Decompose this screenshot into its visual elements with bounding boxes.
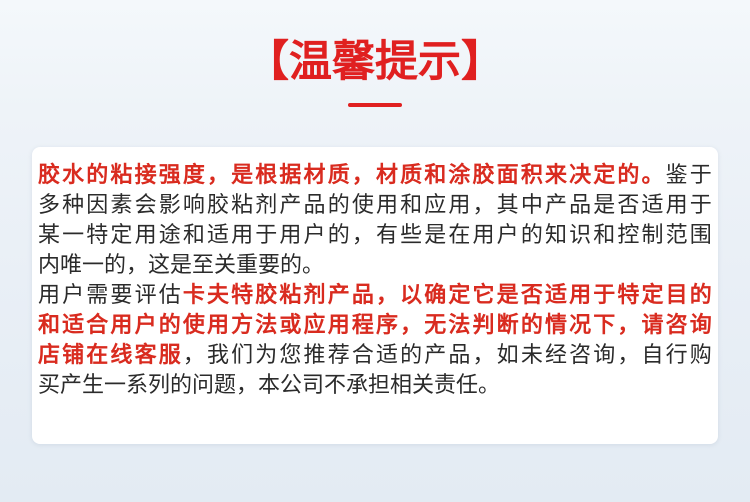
title-block: 【温馨提示】: [0, 36, 750, 107]
notice-text-dark: 用: [666, 191, 688, 221]
notice-text-dark: 户: [497, 221, 519, 251]
notice-text-red: 据: [279, 161, 301, 191]
notice-text-red: ，: [376, 281, 398, 311]
notice-text-red: 法: [448, 311, 470, 341]
notice-text-dark: 产: [545, 191, 567, 221]
notice-text-dark: 些: [400, 221, 422, 251]
notice-text-dark: 会: [135, 191, 157, 221]
notice-text-red: 适: [545, 281, 567, 311]
notice-text-dark: 剂: [255, 191, 277, 221]
notice-text-red: 胶: [255, 281, 277, 311]
notice-text-red: 是: [231, 161, 253, 191]
notice-text-red: 来: [545, 161, 567, 191]
notice-text-red: 产: [328, 281, 350, 311]
notice-text-red: 和: [424, 161, 446, 191]
notice-line: 内唯一的，这是至关重要的。: [38, 251, 712, 281]
notice-text-red: 特: [617, 281, 639, 311]
notice-text-dark: 户: [62, 281, 84, 311]
notice-text-red: 品: [352, 281, 374, 311]
page-title: 【温馨提示】: [0, 36, 750, 88]
notice-text-dark: 行: [666, 341, 688, 371]
notice-text-dark: 估: [159, 281, 181, 311]
notice-text-dark: 品: [304, 191, 326, 221]
notice-text-red: 线: [110, 341, 132, 371]
notice-text-dark: 自: [642, 341, 664, 371]
notice-text-dark: 某: [38, 221, 60, 251]
notice-text-dark: 户: [304, 221, 326, 251]
notice-text-dark: 途: [159, 221, 181, 251]
notice-text-red: 店: [38, 341, 60, 371]
notice-text-dark: 制: [642, 221, 664, 251]
notice-text-dark: 定: [110, 221, 132, 251]
notice-text-red: 请: [642, 311, 664, 341]
notice-text-dark: 胶: [207, 191, 229, 221]
notice-line: 买产生一系列的问题，本公司不承担相关责任。: [38, 371, 712, 401]
notice-text-red: 应: [304, 311, 326, 341]
notice-text-red: 在: [86, 341, 108, 371]
notice-text-red: 下: [593, 311, 615, 341]
notice-text-dark: 否: [617, 191, 639, 221]
notice-text-red: 目: [666, 281, 688, 311]
notice-text-red: 强: [159, 161, 181, 191]
notice-text-red: 根: [255, 161, 277, 191]
notice-text-red: ，: [617, 311, 639, 341]
notice-text-dark: 识: [569, 221, 591, 251]
notice-text-red: 用: [207, 311, 229, 341]
notice-text-red: 的: [86, 161, 108, 191]
notice-text-dark: 内唯一的，这是至关重要的。: [38, 253, 324, 278]
notice-text-dark: 中: [521, 191, 543, 221]
notice-text-dark: 其: [497, 191, 519, 221]
notice-text-dark: 适: [642, 191, 664, 221]
notice-text-red: 断: [497, 311, 519, 341]
notice-text-dark: 于: [690, 161, 712, 191]
notice-text-dark: 用: [38, 281, 60, 311]
notice-line: 和适合用户的使用方法或应用程序，无法判断的情况下，请咨询: [38, 311, 712, 341]
notice-text-dark: 素: [110, 191, 132, 221]
notice-text-red: 询: [690, 311, 712, 341]
notice-text-red: ，: [400, 311, 422, 341]
notice-text-dark: 我: [207, 341, 229, 371]
notice-text-dark: 种: [62, 191, 84, 221]
notice-text-red: 户: [135, 311, 157, 341]
notice-text-red: 接: [135, 161, 157, 191]
notice-text-dark: 询: [593, 341, 615, 371]
notice-text-red: 决: [569, 161, 591, 191]
notice-text-dark: 为: [255, 341, 277, 371]
notice-text-red: ，: [352, 161, 374, 191]
notice-text-red: 方: [231, 311, 253, 341]
notice-text-red: 于: [593, 281, 615, 311]
notice-text-dark: 未: [521, 341, 543, 371]
notice-text-red: 情: [545, 311, 567, 341]
notice-text-red: 判: [473, 311, 495, 341]
notice-text-dark: 品: [569, 191, 591, 221]
notice-text-dark: 用: [231, 221, 253, 251]
notice-text-red: 确: [424, 281, 446, 311]
notice-text-red: 材: [304, 161, 326, 191]
notice-text-dark: 的: [400, 341, 422, 371]
notice-line: 胶水的粘接强度，是根据材质，材质和涂胶面积来决定的。鉴于: [38, 161, 712, 191]
notice-text-dark: 用: [376, 191, 398, 221]
notice-text-red: 涂: [448, 161, 470, 191]
notice-text-dark: 推: [304, 341, 326, 371]
notice-text-dark: 应: [424, 191, 446, 221]
notice-text-dark: 特: [86, 221, 108, 251]
notice-text-dark: ，: [473, 341, 495, 371]
notice-line: 某一特定用途和适用于用户的，有些是在用户的知识和控制范围: [38, 221, 712, 251]
notice-text-red: 度: [183, 161, 205, 191]
notice-text-dark: 用: [135, 221, 157, 251]
notice-text-dark: 在: [448, 221, 470, 251]
notice-text-dark: 需: [86, 281, 108, 311]
notice-line: 店铺在线客服，我们为您推荐合适的产品，如未经咨询，自行购: [38, 341, 712, 371]
notice-text-dark: 咨: [569, 341, 591, 371]
notice-text-red: 客: [135, 341, 157, 371]
notice-text-red: 用: [569, 281, 591, 311]
notice-text-dark: 适: [376, 341, 398, 371]
notice-text-red: 的: [617, 161, 639, 191]
notice-text-red: ，: [207, 161, 229, 191]
notice-text-red: 质: [328, 161, 350, 191]
notice-text-red: 程: [352, 311, 374, 341]
notice-line: 用户需要评估卡夫特胶粘剂产品，以确定它是否适用于特定目的: [38, 281, 712, 311]
notice-text-dark: ，: [352, 221, 374, 251]
notice-text-dark: 合: [352, 341, 374, 371]
notice-text-dark: ，: [183, 341, 205, 371]
notice-text-dark: 影: [159, 191, 181, 221]
notice-text-dark: 一: [62, 221, 84, 251]
notice-text-dark: 是: [593, 191, 615, 221]
notice-text-dark: 的: [328, 221, 350, 251]
notice-text-red: 的: [521, 311, 543, 341]
notice-text-red: 用: [328, 311, 350, 341]
notice-text-red: 的: [159, 311, 181, 341]
notice-text-dark: 和: [400, 191, 422, 221]
notice-text-dark: 因: [86, 191, 108, 221]
notice-text-red: 剂: [304, 281, 326, 311]
notice-text-red: 材: [376, 161, 398, 191]
notice-text-red: 或: [279, 311, 301, 341]
title-divider: [348, 103, 402, 107]
notice-text-dark: 鉴: [666, 161, 688, 191]
notice-text-dark: 和: [593, 221, 615, 251]
notice-panel: 【温馨提示】 胶水的粘接强度，是根据材质，材质和涂胶面积来决定的。鉴于多种因素会…: [0, 0, 750, 502]
notice-text-dark: 评: [135, 281, 157, 311]
notice-line: 多种因素会影响胶粘剂产品的使用和应用，其中产品是否适用于: [38, 191, 712, 221]
notice-text-red: 粘: [279, 281, 301, 311]
notice-text-dark: 您: [279, 341, 301, 371]
notice-text-red: 胶: [38, 161, 60, 191]
notice-text-red: 特: [231, 281, 253, 311]
notice-text-dark: 买产生一系列的问题，本公司不承担相关责任。: [38, 373, 500, 398]
notice-text-red: 定: [593, 161, 615, 191]
notice-text-red: 粘: [110, 161, 132, 191]
notice-text-dark: 要: [110, 281, 132, 311]
notice-text-red: 铺: [62, 341, 84, 371]
notice-text-dark: 粘: [231, 191, 253, 221]
notice-text-red: 水: [62, 161, 84, 191]
notice-text-red: 否: [521, 281, 543, 311]
notice-text-dark: 用: [279, 221, 301, 251]
notice-text-red: 用: [110, 311, 132, 341]
notice-text-red: 夫: [207, 281, 229, 311]
notice-text-dark: 购: [690, 341, 712, 371]
notice-text-red: 和: [38, 311, 60, 341]
notice-text-red: 的: [690, 281, 712, 311]
notice-text-red: 况: [569, 311, 591, 341]
notice-text-red: 法: [255, 311, 277, 341]
notice-text-dark: 适: [207, 221, 229, 251]
notice-text-dark: 如: [497, 341, 519, 371]
notice-text-red: 无: [424, 311, 446, 341]
notice-text-red: 服: [159, 341, 181, 371]
notice-text-dark: 用: [473, 221, 495, 251]
notice-text-dark: 产: [424, 341, 446, 371]
notice-text-red: 定: [642, 281, 664, 311]
notice-text-red: 序: [376, 311, 398, 341]
notice-text-dark: 的: [328, 191, 350, 221]
notice-text-dark: 知: [545, 221, 567, 251]
notice-text-dark: 控: [617, 221, 639, 251]
notice-text-dark: 使: [352, 191, 374, 221]
notice-text-dark: 响: [183, 191, 205, 221]
notice-text-red: 合: [86, 311, 108, 341]
notice-text-red: 使: [183, 311, 205, 341]
notice-text-red: 它: [473, 281, 495, 311]
notice-body: 胶水的粘接强度，是根据材质，材质和涂胶面积来决定的。鉴于多种因素会影响胶粘剂产品…: [38, 161, 712, 401]
notice-text-dark: 的: [521, 221, 543, 251]
notice-text-red: 积: [521, 161, 543, 191]
notice-text-dark: 品: [448, 341, 470, 371]
notice-text-dark: ，: [617, 341, 639, 371]
notice-text-red: 胶: [473, 161, 495, 191]
notice-text-red: 定: [448, 281, 470, 311]
notice-text-dark: 范: [666, 221, 688, 251]
notice-text-dark: 用: [448, 191, 470, 221]
notice-text-dark: 有: [376, 221, 398, 251]
notice-text-dark: ，: [473, 191, 495, 221]
notice-text-dark: 和: [183, 221, 205, 251]
notice-text-red: 面: [497, 161, 519, 191]
notice-text-dark: 们: [231, 341, 253, 371]
notice-text-red: 卡: [183, 281, 205, 311]
notice-text-red: 以: [400, 281, 422, 311]
notice-text-dark: 荐: [328, 341, 350, 371]
notice-card: 胶水的粘接强度，是根据材质，材质和涂胶面积来决定的。鉴于多种因素会影响胶粘剂产品…: [32, 147, 718, 444]
notice-text-dark: 围: [690, 221, 712, 251]
notice-text-dark: 经: [545, 341, 567, 371]
notice-text-dark: 于: [690, 191, 712, 221]
notice-text-dark: 产: [279, 191, 301, 221]
notice-text-red: 。: [642, 161, 664, 191]
notice-text-red: 是: [497, 281, 519, 311]
notice-text-red: 适: [62, 311, 84, 341]
notice-text-dark: 于: [255, 221, 277, 251]
notice-text-red: 咨: [666, 311, 688, 341]
notice-text-red: 质: [400, 161, 422, 191]
notice-text-dark: 多: [38, 191, 60, 221]
notice-text-dark: 是: [424, 221, 446, 251]
